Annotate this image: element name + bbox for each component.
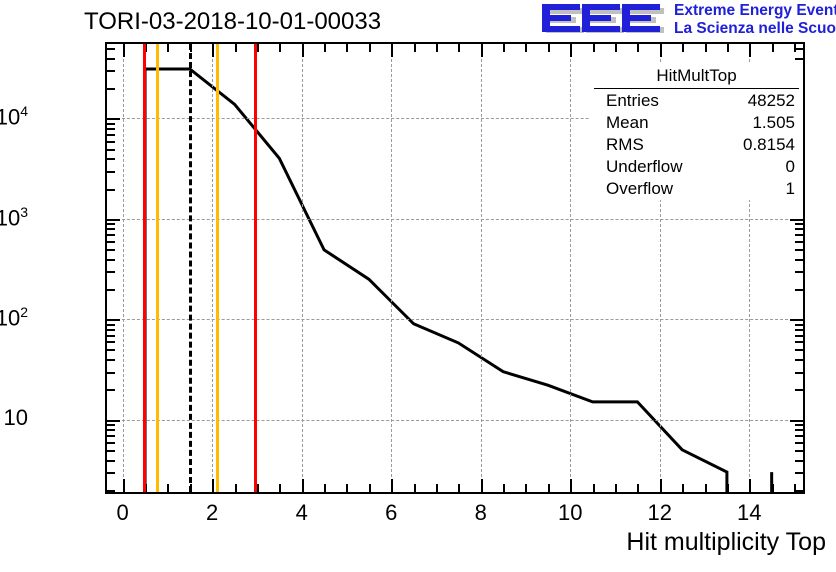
x-tick-major bbox=[391, 479, 393, 492]
x-tick-minor-top bbox=[772, 44, 774, 52]
x-tick-minor bbox=[615, 484, 617, 492]
x-tick-label: 6 bbox=[385, 500, 397, 526]
y-tick-minor bbox=[107, 490, 115, 492]
x-tick-minor bbox=[257, 484, 259, 492]
stats-value: 48252 bbox=[748, 90, 795, 112]
y-tick-major bbox=[107, 420, 120, 422]
y-tick-minor bbox=[107, 289, 115, 291]
x-tick-minor-top bbox=[503, 44, 505, 52]
stats-key: RMS bbox=[606, 134, 644, 156]
y-tick-minor bbox=[107, 460, 115, 462]
x-tick-major bbox=[570, 479, 572, 492]
y-tick-minor-right bbox=[795, 341, 803, 343]
x-tick-minor-top bbox=[458, 44, 460, 52]
marker-line-mean-dashed bbox=[189, 44, 192, 492]
y-tick-minor bbox=[107, 88, 115, 90]
marker-line-red-high bbox=[254, 44, 257, 492]
y-tick-minor bbox=[107, 450, 115, 452]
eee-logo: Extreme Energy Events La Scienza nelle S… bbox=[540, 2, 832, 42]
marker-line-orange-high bbox=[216, 44, 219, 492]
x-tick-minor-top bbox=[369, 44, 371, 52]
x-tick-major-top bbox=[749, 44, 751, 57]
y-tick-minor-right bbox=[795, 490, 803, 492]
x-tick-major-top bbox=[570, 44, 572, 57]
y-tick-minor-right bbox=[795, 228, 803, 230]
y-tick-minor bbox=[107, 134, 115, 136]
x-tick-minor bbox=[458, 484, 460, 492]
x-tick-major bbox=[481, 479, 483, 492]
eee-logo-text: Extreme Energy Events La Scienza nelle S… bbox=[674, 2, 836, 38]
x-tick-minor-top bbox=[235, 44, 237, 52]
y-tick-minor-right bbox=[795, 372, 803, 374]
y-tick-minor-right bbox=[795, 223, 803, 225]
x-tick-minor bbox=[167, 484, 169, 492]
y-tick-minor bbox=[107, 48, 115, 50]
x-tick-major-top bbox=[391, 44, 393, 57]
gridline-vertical bbox=[481, 44, 482, 492]
stats-row: RMS0.8154 bbox=[590, 134, 803, 156]
y-tick-minor bbox=[107, 259, 115, 261]
x-tick-minor bbox=[682, 484, 684, 492]
stats-key: Underflow bbox=[606, 156, 683, 178]
y-tick-minor bbox=[107, 128, 115, 130]
stats-key: Entries bbox=[606, 90, 659, 112]
x-tick-minor-top bbox=[593, 44, 595, 52]
x-tick-label: 14 bbox=[737, 500, 761, 526]
x-tick-minor bbox=[414, 484, 416, 492]
x-tick-major bbox=[212, 479, 214, 492]
x-tick-minor-top bbox=[682, 44, 684, 52]
y-tick-minor-right bbox=[795, 259, 803, 261]
y-tick-minor-right bbox=[795, 442, 803, 444]
x-tick-major-top bbox=[481, 44, 483, 57]
y-tick-minor bbox=[107, 389, 115, 391]
x-tick-major bbox=[749, 479, 751, 492]
y-tick-minor-right bbox=[795, 435, 803, 437]
y-tick-major-right bbox=[790, 319, 803, 321]
y-tick-minor bbox=[107, 424, 115, 426]
y-tick-minor-right bbox=[795, 271, 803, 273]
x-tick-minor bbox=[794, 484, 796, 492]
y-tick-minor-right bbox=[795, 289, 803, 291]
gridline-vertical bbox=[391, 44, 392, 492]
stats-row: Underflow0 bbox=[590, 156, 803, 178]
y-tick-minor bbox=[107, 58, 115, 60]
stats-value: 1.505 bbox=[752, 112, 795, 134]
stats-row: Overflow1 bbox=[590, 178, 803, 200]
y-tick-minor-right bbox=[795, 249, 803, 251]
y-tick-minor-right bbox=[795, 335, 803, 337]
y-tick-minor bbox=[107, 329, 115, 331]
y-tick-minor bbox=[107, 349, 115, 351]
y-tick-minor-right bbox=[795, 349, 803, 351]
marker-line-red-low bbox=[143, 44, 146, 492]
x-tick-minor bbox=[593, 484, 595, 492]
y-tick-minor bbox=[107, 335, 115, 337]
stats-row: Entries48252 bbox=[590, 90, 803, 112]
y-tick-minor bbox=[107, 435, 115, 437]
stats-value: 0.8154 bbox=[743, 134, 795, 156]
x-tick-minor bbox=[324, 484, 326, 492]
eee-tagline-1: Extreme Energy Events bbox=[674, 2, 836, 20]
y-tick-minor-right bbox=[795, 389, 803, 391]
x-tick-major-top bbox=[212, 44, 214, 57]
y-tick-label: 103 bbox=[0, 204, 28, 231]
x-tick-minor bbox=[548, 484, 550, 492]
y-tick-minor-right bbox=[795, 460, 803, 462]
y-tick-major bbox=[107, 118, 120, 120]
eee-tagline-2: La Scienza nelle Scuole bbox=[674, 20, 836, 38]
x-tick-minor-top bbox=[324, 44, 326, 52]
y-tick-minor-right bbox=[795, 429, 803, 431]
x-tick-minor bbox=[727, 484, 729, 492]
y-tick-minor-right bbox=[795, 424, 803, 426]
y-tick-label: 102 bbox=[0, 304, 28, 331]
stats-rows: Entries48252Mean1.505RMS0.8154Underflow0… bbox=[590, 90, 803, 200]
stats-title: HitMultTop bbox=[590, 64, 803, 88]
x-tick-minor-top bbox=[414, 44, 416, 52]
y-tick-minor-right bbox=[795, 241, 803, 243]
x-tick-major bbox=[302, 479, 304, 492]
y-tick-minor bbox=[107, 149, 115, 151]
x-tick-label: 8 bbox=[475, 500, 487, 526]
y-tick-minor bbox=[107, 70, 115, 72]
x-tick-label: 0 bbox=[117, 500, 129, 526]
stats-value: 1 bbox=[786, 178, 795, 200]
y-tick-minor bbox=[107, 341, 115, 343]
x-tick-major bbox=[660, 479, 662, 492]
y-tick-minor bbox=[107, 442, 115, 444]
y-tick-major-right bbox=[790, 219, 803, 221]
y-tick-minor bbox=[107, 429, 115, 431]
x-tick-minor-top bbox=[167, 44, 169, 52]
y-tick-minor bbox=[107, 158, 115, 160]
y-tick-minor-right bbox=[795, 48, 803, 50]
y-tick-major bbox=[107, 219, 120, 221]
marker-line-orange-low bbox=[156, 44, 159, 492]
x-tick-minor-top bbox=[548, 44, 550, 52]
y-tick-minor bbox=[107, 141, 115, 143]
y-tick-minor bbox=[107, 359, 115, 361]
y-tick-minor-right bbox=[795, 359, 803, 361]
x-tick-minor bbox=[637, 484, 639, 492]
x-tick-minor-top bbox=[637, 44, 639, 52]
x-tick-minor-top bbox=[257, 44, 259, 52]
stats-value: 0 bbox=[786, 156, 795, 178]
y-tick-minor bbox=[107, 372, 115, 374]
x-tick-minor-top bbox=[279, 44, 281, 52]
x-tick-minor-top bbox=[794, 44, 796, 52]
x-tick-minor-top bbox=[727, 44, 729, 52]
y-tick-label: 104 bbox=[0, 103, 28, 130]
x-tick-minor-top bbox=[525, 44, 527, 52]
y-tick-minor-right bbox=[795, 472, 803, 474]
y-tick-major bbox=[107, 319, 120, 321]
stats-key: Overflow bbox=[606, 178, 673, 200]
y-tick-minor-right bbox=[795, 58, 803, 60]
x-tick-minor bbox=[772, 484, 774, 492]
x-tick-major bbox=[123, 479, 125, 492]
x-tick-minor bbox=[279, 484, 281, 492]
y-tick-minor bbox=[107, 228, 115, 230]
x-tick-minor bbox=[705, 484, 707, 492]
gridline-vertical bbox=[123, 44, 124, 492]
stats-box: HitMultTop Entries48252Mean1.505RMS0.815… bbox=[590, 64, 803, 200]
y-tick-minor bbox=[107, 271, 115, 273]
stats-row: Mean1.505 bbox=[590, 112, 803, 134]
x-tick-minor bbox=[369, 484, 371, 492]
y-tick-minor bbox=[107, 171, 115, 173]
y-tick-minor bbox=[107, 472, 115, 474]
x-tick-major-top bbox=[302, 44, 304, 57]
x-tick-label: 10 bbox=[558, 500, 582, 526]
gridline-vertical bbox=[212, 44, 213, 492]
x-tick-minor bbox=[436, 484, 438, 492]
x-tick-major-top bbox=[123, 44, 125, 57]
y-tick-minor bbox=[107, 189, 115, 191]
y-tick-minor bbox=[107, 223, 115, 225]
x-tick-minor bbox=[346, 484, 348, 492]
x-tick-label: 12 bbox=[648, 500, 672, 526]
gridline-vertical bbox=[302, 44, 303, 492]
x-tick-minor bbox=[235, 484, 237, 492]
stats-divider bbox=[594, 88, 799, 89]
x-tick-minor-top bbox=[346, 44, 348, 52]
y-tick-minor-right bbox=[795, 329, 803, 331]
x-tick-minor-top bbox=[615, 44, 617, 52]
y-tick-minor bbox=[107, 249, 115, 251]
y-tick-minor bbox=[107, 234, 115, 236]
x-axis-title: Hit multiplicity Top bbox=[626, 528, 826, 557]
y-tick-minor-right bbox=[795, 234, 803, 236]
y-tick-major-right bbox=[790, 420, 803, 422]
y-tick-label: 10 bbox=[4, 405, 28, 431]
x-tick-label: 4 bbox=[296, 500, 308, 526]
y-tick-minor bbox=[107, 123, 115, 125]
root-canvas: TORI-03-2018-10-01-00033 bbox=[0, 0, 836, 572]
x-tick-minor bbox=[525, 484, 527, 492]
y-tick-minor bbox=[107, 241, 115, 243]
x-tick-major-top bbox=[660, 44, 662, 57]
x-tick-minor-top bbox=[436, 44, 438, 52]
x-tick-minor-top bbox=[705, 44, 707, 52]
y-tick-minor bbox=[107, 324, 115, 326]
page-title: TORI-03-2018-10-01-00033 bbox=[84, 8, 381, 36]
stats-key: Mean bbox=[606, 112, 649, 134]
y-tick-minor-right bbox=[795, 450, 803, 452]
eee-logo-mark bbox=[540, 2, 668, 38]
x-tick-label: 2 bbox=[206, 500, 218, 526]
x-tick-minor bbox=[503, 484, 505, 492]
y-tick-minor-right bbox=[795, 324, 803, 326]
gridline-vertical bbox=[570, 44, 571, 492]
